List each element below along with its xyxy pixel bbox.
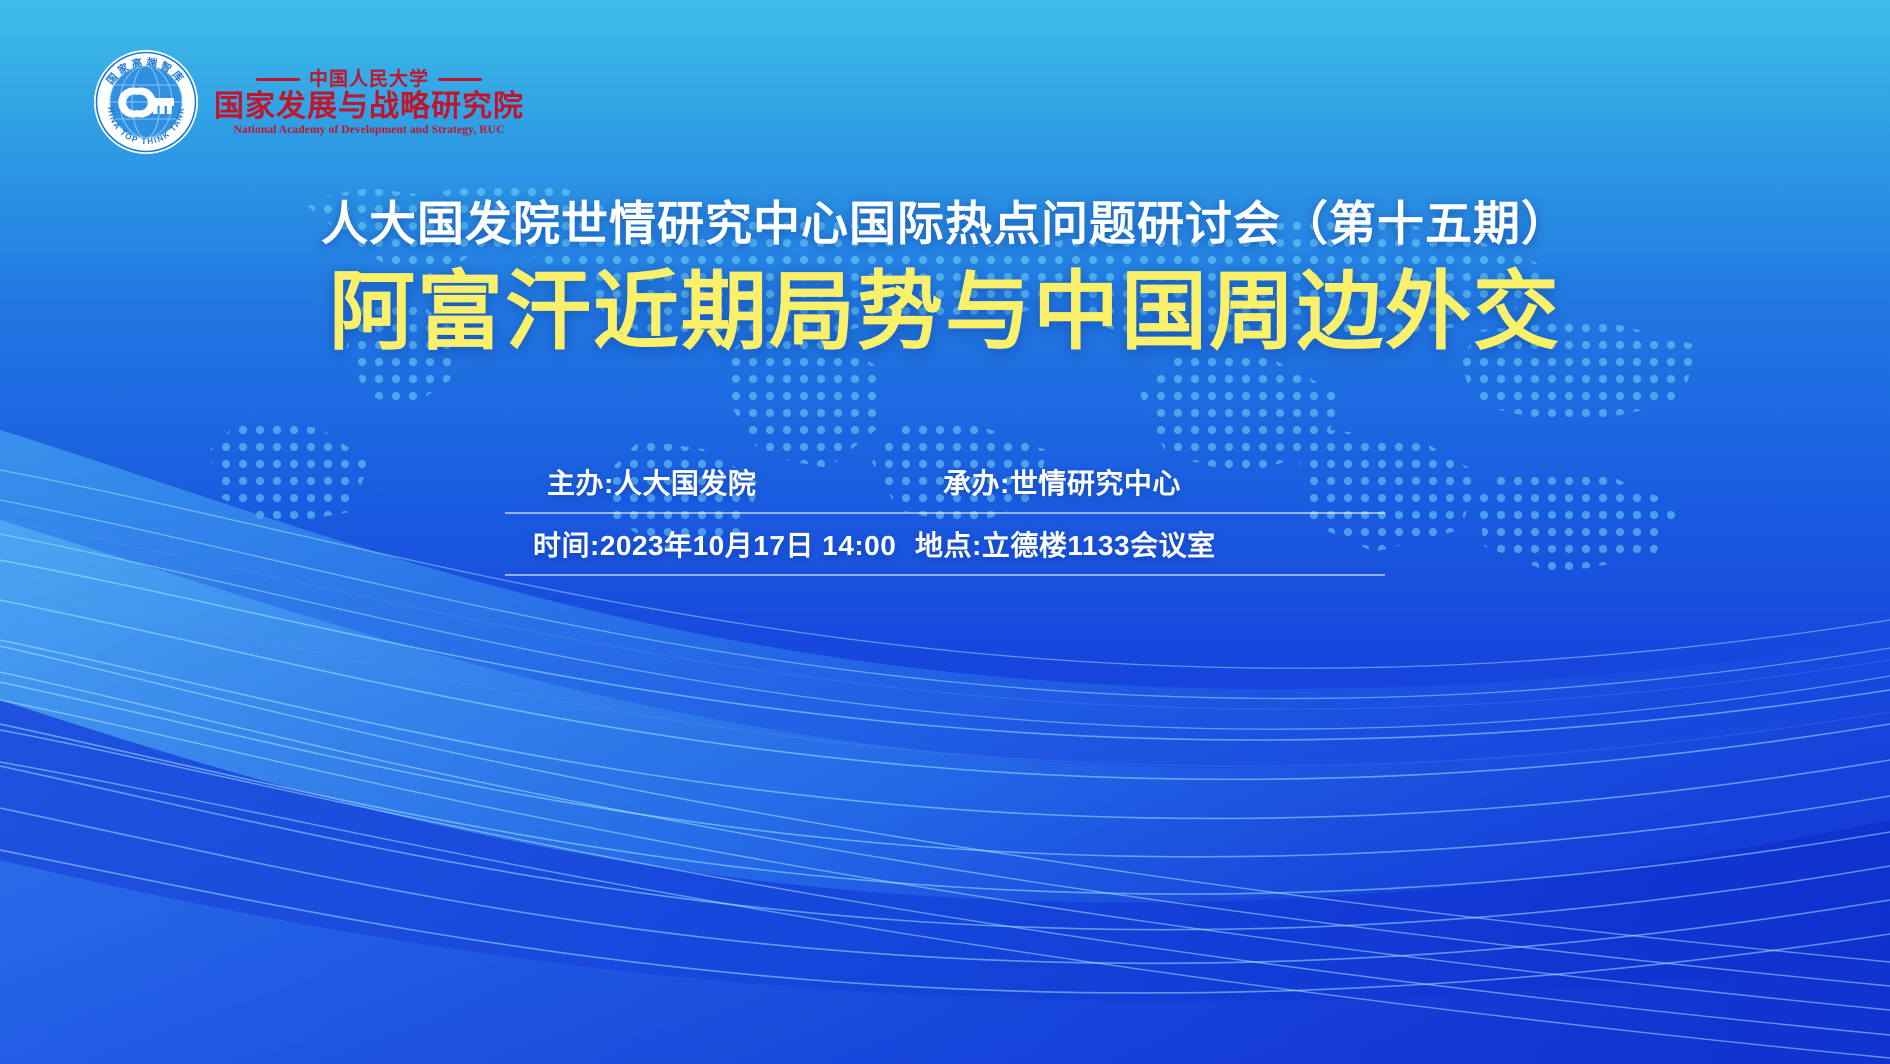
logo-wordmark: 中国人民大学 国家发展与战略研究院 National Academy of De… <box>214 66 524 138</box>
title-block: 人大国发院世情研究中心国际热点问题研讨会（第十五期） 阿富汗近期局势与中国周边外… <box>0 196 1890 361</box>
event-details: 主办:人大国发院 承办:世情研究中心 时间:2023年10月17日 14:00 … <box>505 452 1385 576</box>
logo-rule-left <box>256 78 300 81</box>
logo-institute-name-cn: 国家发展与战略研究院 <box>214 91 524 123</box>
series-subtitle: 人大国发院世情研究中心国际热点问题研讨会（第十五期） <box>0 196 1890 251</box>
event-place: 地点:立德楼1133会议室 <box>905 524 1385 564</box>
conference-banner: 国家高端智库 CHINA TOP THINK TANKS 中国人民大学 国家发展… <box>0 0 1890 1064</box>
logo-rule-right <box>438 78 482 81</box>
event-time: 时间:2023年10月17日 14:00 <box>505 524 905 564</box>
detail-row-organizers: 主办:人大国发院 承办:世情研究中心 <box>505 452 1385 514</box>
logo-university-line: 中国人民大学 <box>214 70 524 89</box>
china-top-think-tanks-emblem-icon: 国家高端智库 CHINA TOP THINK TANKS <box>92 48 200 156</box>
co-organizer-label: 承办:世情研究中心 <box>925 462 1385 502</box>
page-title: 阿富汗近期局势与中国周边外交 <box>0 263 1890 361</box>
logo-university-name: 中国人民大学 <box>309 70 429 89</box>
logo: 国家高端智库 CHINA TOP THINK TANKS 中国人民大学 国家发展… <box>92 48 524 156</box>
logo-institute-name-en: National Academy of Development and Stra… <box>214 124 524 138</box>
detail-row-time-place: 时间:2023年10月17日 14:00 地点:立德楼1133会议室 <box>505 514 1385 576</box>
organizer-label: 主办:人大国发院 <box>505 462 925 502</box>
